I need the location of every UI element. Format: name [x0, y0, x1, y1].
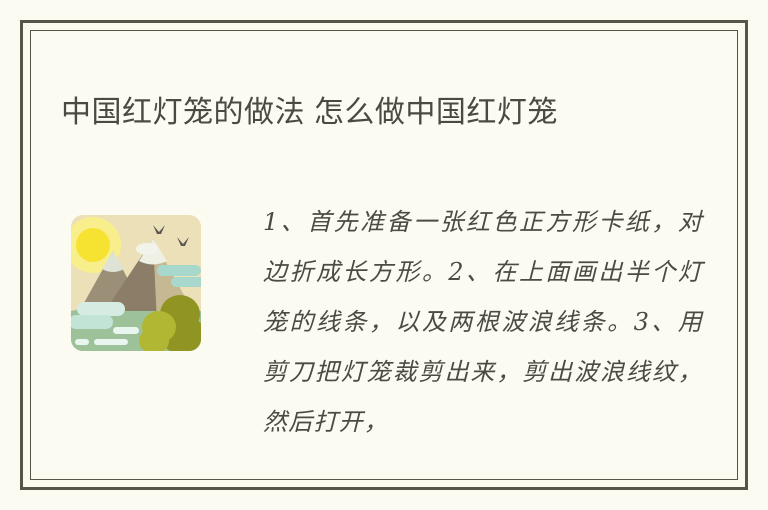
article-card-inner-border: 中国红灯笼的做法 怎么做中国红灯笼 — [30, 30, 738, 480]
landscape-illustration-icon — [61, 203, 211, 363]
article-thumbnail — [61, 203, 211, 363]
page-title: 中国红灯笼的做法 怎么做中国红灯笼 — [61, 89, 681, 137]
article-card: 中国红灯笼的做法 怎么做中国红灯笼 — [20, 20, 748, 490]
article-body: 1、首先准备一张红色正方形卡纸，对边折成长方形。2、在上面画出半个灯笼的线条，以… — [263, 197, 703, 447]
article-content: 1、首先准备一张红色正方形卡纸，对边折成长方形。2、在上面画出半个灯笼的线条，以… — [61, 203, 713, 463]
